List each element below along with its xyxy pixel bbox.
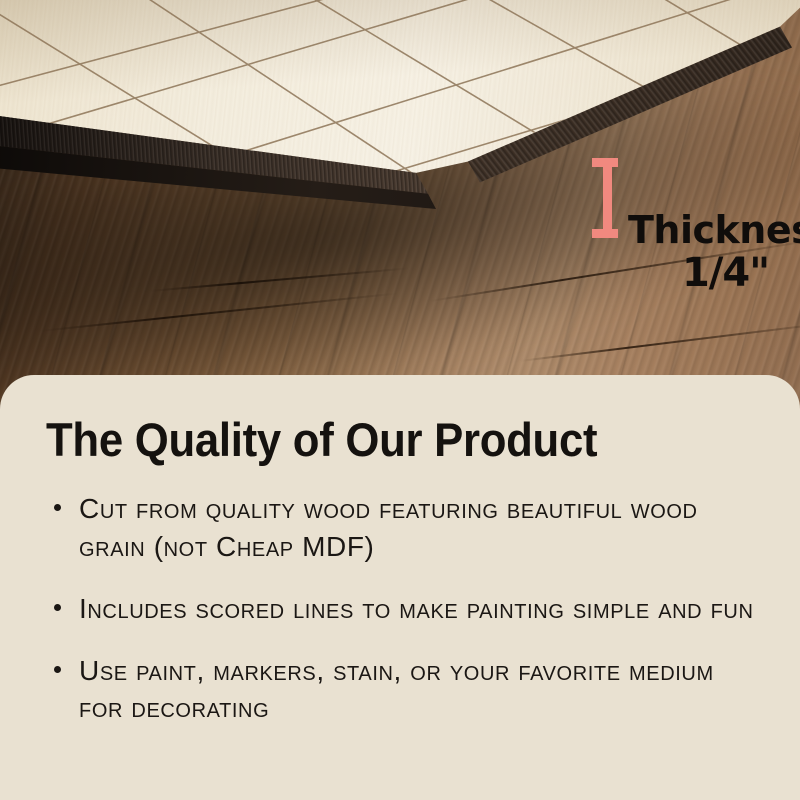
- product-infographic: Thickness 1/4" The Quality of Our Produc…: [0, 0, 800, 800]
- list-item-label: Cut from quality wood featuring beautifu…: [79, 493, 698, 561]
- thickness-bracket-icon: [592, 158, 622, 238]
- quality-info-panel: The Quality of Our Product Cut from qual…: [0, 375, 800, 800]
- bullet-dot-icon: [54, 504, 61, 511]
- thickness-label: Thickness: [628, 208, 800, 252]
- list-item: Use paint, markers, stain, or your favor…: [46, 652, 754, 726]
- thickness-value: 1/4": [628, 250, 800, 296]
- bullet-dot-icon: [54, 666, 61, 673]
- bullet-dot-icon: [54, 604, 61, 611]
- quality-bullet-list: Cut from quality wood featuring beautifu…: [46, 490, 754, 726]
- list-item-label: Includes scored lines to make painting s…: [79, 593, 754, 624]
- page-title: The Quality of Our Product: [46, 415, 704, 464]
- list-item: Cut from quality wood featuring beautifu…: [46, 490, 754, 564]
- list-item: Includes scored lines to make painting s…: [46, 590, 754, 627]
- list-item-label: Use paint, markers, stain, or your favor…: [79, 655, 714, 723]
- wood-board: [0, 0, 800, 380]
